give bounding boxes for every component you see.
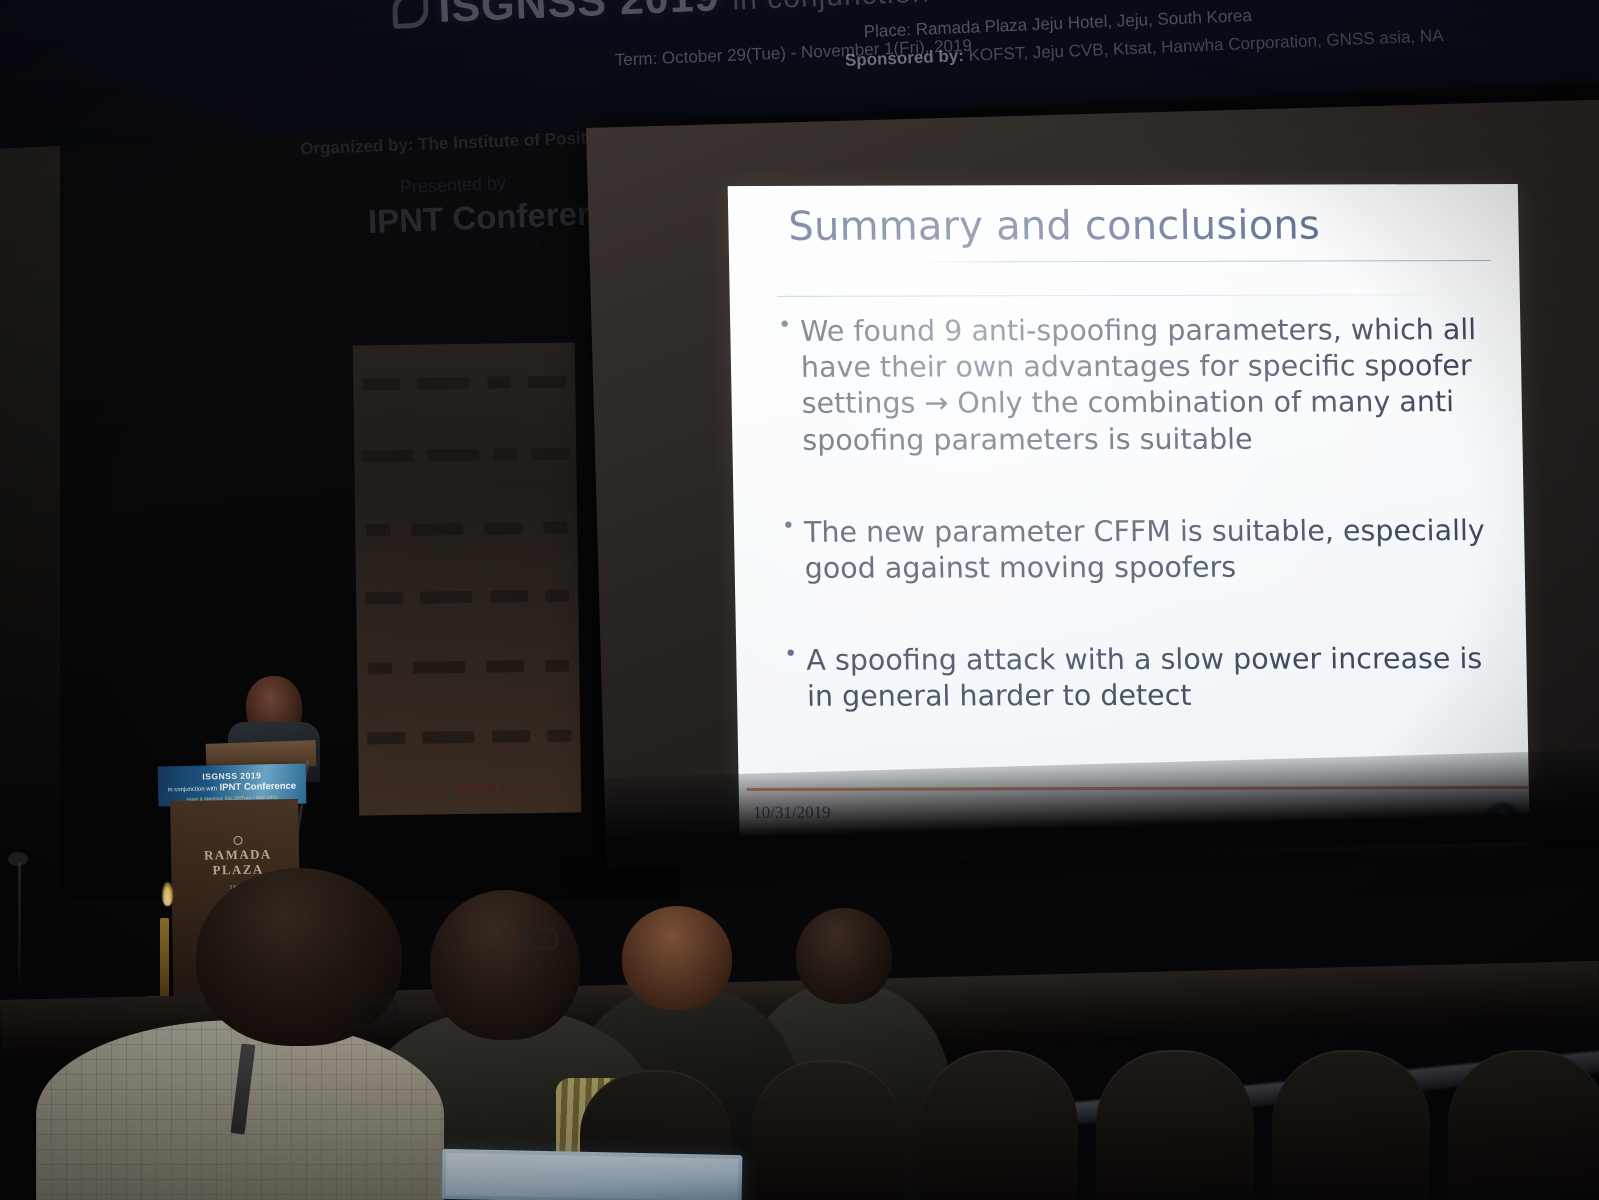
sponsor-logo-kofst: KOFST: [455, 780, 509, 796]
candle-flame-icon: [162, 882, 173, 906]
audience-member-head: [796, 908, 892, 1004]
auditorium-chair: [1448, 1050, 1599, 1200]
ista-triangle-icon: [1493, 808, 1511, 820]
auditorium-chair: [920, 1050, 1078, 1200]
presentation-slide: Summary and conclusions We found 9 anti-…: [728, 184, 1530, 841]
conference-room-scene: ISGNSS 2019 in conjunction Term: October…: [0, 0, 1599, 1200]
slide-bullet-list: We found 9 anti-spoofing parameters, whi…: [776, 312, 1489, 715]
title-divider-secondary: [778, 294, 1478, 297]
isgnss-logo-icon: [392, 0, 429, 29]
projection-screen: Summary and conclusions We found 9 anti-…: [586, 100, 1599, 868]
eyeglasses-icon: [524, 928, 558, 950]
candle-stick: [160, 918, 169, 1004]
slide-footer-right: 16 ISTA: [1455, 803, 1520, 837]
floor-microphone-stand: [18, 862, 21, 982]
venue-presented-by: Presented by: [400, 173, 507, 198]
sponsor-label: Sponsored by:: [845, 46, 965, 70]
auditorium-chair: [1272, 1050, 1430, 1200]
audience-member-head: [622, 906, 732, 1010]
audience-member-head: [430, 890, 580, 1040]
auditorium-chair: [1096, 1050, 1254, 1200]
ramada-name: RAMADA: [204, 846, 272, 862]
title-divider: [911, 260, 1491, 263]
sponsor-roll-up-banner: KOFST: [353, 342, 582, 815]
podium-sign-line2: in conjunction with IPNT Conference: [158, 780, 306, 794]
slide-page-number: 16: [1455, 809, 1475, 832]
slide-bullet-item: The new parameter CFFM is suitable, espe…: [780, 513, 1487, 587]
slide-bullet-item: A spoofing attack with a slow power incr…: [782, 641, 1489, 715]
audience-laptop-screen: [442, 1149, 743, 1200]
slide-title: Summary and conclusions: [788, 203, 1320, 250]
slide-footer-rule: [747, 786, 1529, 791]
ramada-crown-icon: [233, 836, 242, 845]
slide-footer-date: 10/31/2019: [753, 803, 831, 823]
venue-banner-title-sub: in conjunction: [732, 0, 931, 17]
podium-sign-prefix: in conjunction with: [168, 786, 217, 793]
slide-bullet-item: We found 9 anti-spoofing parameters, whi…: [776, 312, 1485, 459]
ista-logo-text: ISTA: [1485, 822, 1519, 833]
auditorium-chair: [752, 1060, 902, 1200]
venue-banner-title-main: ISGNSS 2019: [437, 0, 720, 32]
podium-sign-conference: IPNT Conference: [220, 781, 297, 794]
ista-logo-icon: ISTA: [1485, 803, 1520, 837]
